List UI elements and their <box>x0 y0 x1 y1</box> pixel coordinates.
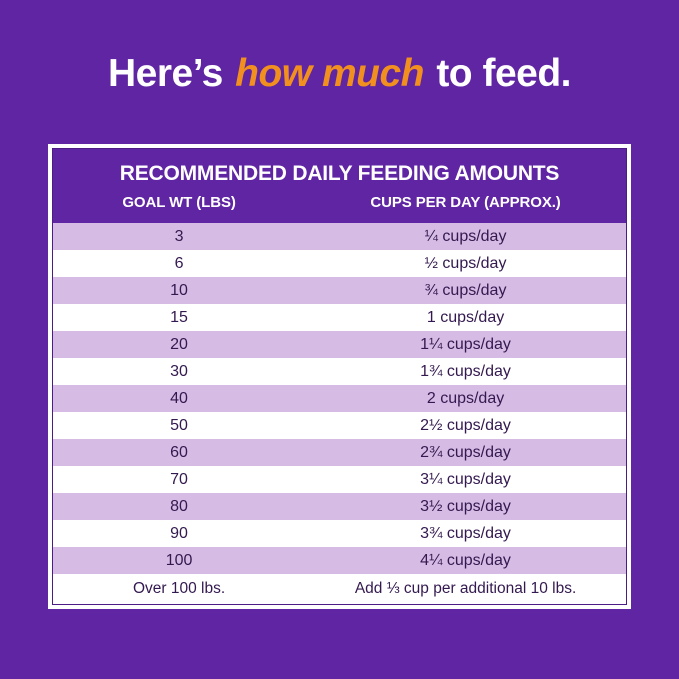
cell-cups-per-day: 3¼ cups/day <box>305 470 626 490</box>
table-row: 30 1¾ cups/day <box>53 358 626 385</box>
cell-goal-weight: 80 <box>53 497 305 517</box>
cell-cups-per-day: ¾ cups/day <box>305 281 626 301</box>
cell-cups-per-day: 2 cups/day <box>305 389 626 409</box>
table-header: RECOMMENDED DAILY FEEDING AMOUNTS GOAL W… <box>53 149 626 223</box>
table-row: 100 4¼ cups/day <box>53 547 626 574</box>
headline-after: to feed. <box>426 52 571 95</box>
table-row: 50 2½ cups/day <box>53 412 626 439</box>
cell-goal-weight: 30 <box>53 362 305 382</box>
table-column-headers: GOAL WT (LBS) CUPS PER DAY (APPROX.) <box>53 193 626 213</box>
table-row: 20 1¼ cups/day <box>53 331 626 358</box>
cell-goal-weight: 60 <box>53 443 305 463</box>
table-body: 3 ¼ cups/day 6 ½ cups/day 10 ¾ cups/day … <box>53 223 626 604</box>
feeding-table: RECOMMENDED DAILY FEEDING AMOUNTS GOAL W… <box>52 148 627 605</box>
headline-before: Here’s <box>108 52 233 95</box>
cell-cups-per-day: 3½ cups/day <box>305 497 626 517</box>
cell-cups-per-day: 1¾ cups/day <box>305 362 626 382</box>
cell-cups-per-day: 3¾ cups/day <box>305 524 626 544</box>
cell-goal-weight: 3 <box>53 227 305 247</box>
cell-cups-per-day: ¼ cups/day <box>305 227 626 247</box>
page-title: Here’s how much to feed. <box>0 50 679 98</box>
cell-goal-weight: 40 <box>53 389 305 409</box>
cell-goal-weight: 20 <box>53 335 305 355</box>
table-row: 90 3¾ cups/day <box>53 520 626 547</box>
table-row: 10 ¾ cups/day <box>53 277 626 304</box>
cell-cups-per-day: 1¼ cups/day <box>305 335 626 355</box>
cell-cups-per-day: Add ⅓ cup per additional 10 lbs. <box>305 579 626 599</box>
table-row: 60 2¾ cups/day <box>53 439 626 466</box>
cell-goal-weight: 90 <box>53 524 305 544</box>
table-row: 15 1 cups/day <box>53 304 626 331</box>
table-row: Over 100 lbs. Add ⅓ cup per additional 1… <box>53 574 626 604</box>
cell-cups-per-day: 1 cups/day <box>305 308 626 328</box>
cell-goal-weight: 15 <box>53 308 305 328</box>
cell-cups-per-day: ½ cups/day <box>305 254 626 274</box>
table-row: 40 2 cups/day <box>53 385 626 412</box>
table-row: 70 3¼ cups/day <box>53 466 626 493</box>
table-row: 6 ½ cups/day <box>53 250 626 277</box>
feeding-table-card: RECOMMENDED DAILY FEEDING AMOUNTS GOAL W… <box>48 144 631 609</box>
feeding-chart-page: Here’s how much to feed. RECOMMENDED DAI… <box>0 0 679 679</box>
column-header-cups-per-day: CUPS PER DAY (APPROX.) <box>305 193 626 213</box>
cell-goal-weight: 10 <box>53 281 305 301</box>
cell-cups-per-day: 2½ cups/day <box>305 416 626 436</box>
table-row: 3 ¼ cups/day <box>53 223 626 250</box>
cell-goal-weight: 6 <box>53 254 305 274</box>
cell-goal-weight: Over 100 lbs. <box>53 579 305 599</box>
cell-goal-weight: 50 <box>53 416 305 436</box>
table-title: RECOMMENDED DAILY FEEDING AMOUNTS <box>53 161 626 187</box>
cell-goal-weight: 70 <box>53 470 305 490</box>
cell-cups-per-day: 2¾ cups/day <box>305 443 626 463</box>
headline-accent: how much <box>233 52 426 95</box>
column-header-goal-weight: GOAL WT (LBS) <box>53 193 305 213</box>
table-row: 80 3½ cups/day <box>53 493 626 520</box>
cell-goal-weight: 100 <box>53 551 305 571</box>
cell-cups-per-day: 4¼ cups/day <box>305 551 626 571</box>
